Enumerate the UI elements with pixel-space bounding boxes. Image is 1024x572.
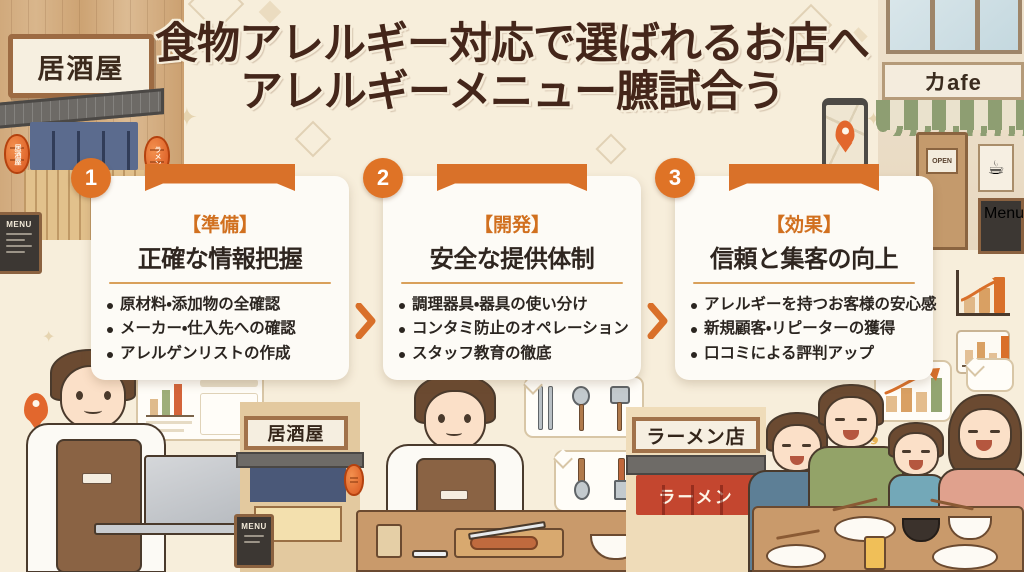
smartphone-map-pin-icon (822, 98, 868, 172)
ramen-noren-text: ラーメン (658, 483, 733, 508)
divider (109, 282, 331, 284)
family-dining-illustration: ❟❟ (752, 372, 1024, 572)
ramen-shop-sign: ラーメン店 (632, 417, 760, 453)
ramen-noren-curtain: ラーメン (636, 475, 756, 515)
step-category-1: 【準備】 (103, 210, 337, 237)
title-line-2: アレルギーメニュー臕試合う (0, 68, 1024, 116)
chevron-right-icon (647, 303, 669, 339)
step-list-3: アレルギーを持つお客様の安心感 新規顧客・リピーターの獲得 口コミによる評判アッ… (687, 293, 921, 366)
staff-apron (56, 439, 142, 572)
ramen-shop-roof (626, 455, 766, 475)
staff-eye (76, 391, 83, 400)
list-item: スタッフ教育の徹底 (397, 342, 627, 366)
step-ribbon-3 (729, 164, 879, 191)
menu-line (244, 541, 260, 543)
family-member-head (958, 408, 1012, 460)
paper-lantern-icon: 居酒屋 (4, 134, 30, 174)
utensil-on-counter (412, 550, 448, 558)
location-pin-icon (836, 120, 855, 145)
step-ribbon-2 (437, 164, 587, 191)
list-item: 調理器具・器具の使い分け (397, 293, 627, 317)
chef-mouth (446, 430, 462, 436)
page-title: 食物アレルギー対応で選ばれるお店へ アレルギーメニュー臕試合う (0, 20, 1024, 116)
chef-eye (438, 414, 445, 423)
food-plate (932, 544, 998, 570)
fork-icon (618, 458, 625, 482)
laptop-icon (144, 455, 248, 527)
list-item: 新規顧客・リピーターの獲得 (689, 317, 919, 341)
laptop-base (94, 523, 242, 535)
step-badge-1: 1 (71, 158, 111, 198)
list-item: メーカー・仕入先への確認 (105, 317, 335, 341)
step-list-2: 調理器具・器具の使い分け コンタミ防止のオペレーション スタッフ教育の徹底 (395, 293, 629, 366)
diamond-decor (595, 133, 626, 164)
step-category-2: 【開発】 (395, 210, 629, 237)
step-badge-3: 3 (655, 158, 695, 198)
chef-eye (464, 414, 471, 423)
step-heading-3: 信頼と集客の向上 (687, 239, 921, 274)
step-card-3[interactable]: 3 【効果】 信頼と集客の向上 アレルギーを持つお客様の安心感 新規顧客・リピー… (675, 176, 933, 380)
chef-name-tag (440, 490, 468, 500)
chef-preparing-food-illustration (356, 372, 646, 572)
mini-bar-chart-icon (146, 381, 194, 417)
step-category-3: 【効果】 (687, 210, 921, 237)
diamond-decor (295, 121, 332, 158)
staff-with-laptop-illustration (8, 347, 270, 572)
mini-izakaya-illustration: 居酒屋 MENU (240, 402, 360, 572)
mini-izakaya-sign: 居酒屋 (244, 416, 348, 450)
step-heading-2: 安全な提供体制 (395, 239, 629, 274)
mini-shop-noren (250, 468, 346, 502)
ladle-icon (572, 386, 590, 406)
mini-izakaya-sign-text: 居酒屋 (268, 420, 325, 446)
chevron-right-icon (355, 303, 377, 339)
step-ribbon-1 (145, 164, 295, 191)
step-list-1: 原材料・添加物の全確認 メーカー・仕入先への確認 アレルゲンリストの作成 (103, 293, 337, 366)
infographic-canvas: ✦ ✦ ✦ ✦ 居酒屋 居酒屋 ラメン MENU カafe (0, 0, 1024, 572)
steps-row: 1 【準備】 正確な情報把握 原材料・添加物の全確認 メーカー・仕入先への確認 … (0, 176, 1024, 380)
step-badge-2: 2 (363, 158, 403, 198)
list-item: コンタミ防止のオペレーション (397, 317, 627, 341)
step-number-1: 1 (85, 165, 97, 191)
location-pin-icon (24, 393, 50, 427)
menu-line (244, 535, 264, 537)
step-heading-1: 正確な情報把握 (103, 239, 337, 274)
staff-eye (104, 391, 111, 400)
step-card-2[interactable]: 2 【開発】 安全な提供体制 調理器具・器具の使い分け コンタミ防止のオペレーシ… (383, 176, 641, 380)
lantern-right-text: ラメン (152, 146, 162, 167)
chopsticks-icon (538, 386, 543, 430)
list-item: アレルゲンリストの作成 (105, 342, 335, 366)
step-card-1[interactable]: 1 【準備】 正確な情報把握 原材料・添加物の全確認 メーカー・仕入先への確認 … (91, 176, 349, 380)
food-plate (766, 544, 826, 568)
ramen-sign-text: ラーメン店 (646, 422, 745, 449)
open-sign-text: OPEN (932, 158, 952, 165)
menu-board-sign: MENU (234, 514, 274, 568)
list-item: アレルギーを持つお客様の安心感 (689, 293, 919, 317)
spoon-icon (578, 458, 585, 482)
staff-mouth (84, 407, 102, 414)
spice-jar (376, 524, 402, 558)
ramen-shop-illustration: ラーメン店 ラーメン (626, 407, 766, 572)
title-line-1: 食物アレルギー対応で選ばれるお店へ (0, 20, 1024, 68)
step-number-3: 3 (669, 165, 681, 191)
lantern-left-text: 居酒屋 (12, 144, 22, 165)
open-sign-tag: OPEN (926, 148, 958, 174)
list-item: 口コミによる評判アップ (689, 342, 919, 366)
divider (693, 282, 915, 284)
staff-name-tag (82, 473, 112, 484)
chef-head (424, 390, 486, 450)
step-number-2: 2 (377, 165, 389, 191)
divider (401, 282, 623, 284)
juice-glass (864, 536, 886, 570)
menu-board-title: MENU (241, 522, 267, 531)
mini-shop-roof (236, 452, 364, 468)
list-item: 原材料・添加物の全確認 (105, 293, 335, 317)
phone-map-screen (826, 105, 864, 165)
family-member-head (824, 396, 878, 448)
